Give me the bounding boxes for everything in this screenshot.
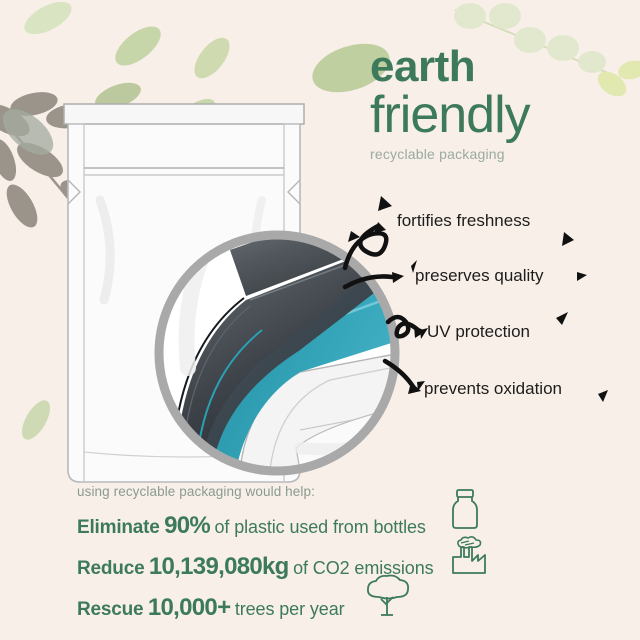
headline-line-1: earth <box>370 44 630 90</box>
stat-row: Rescue 10,000+ trees per year <box>77 594 547 622</box>
curly-arrow-icon <box>388 317 418 336</box>
feature-label-prevents-oxidation: prevents oxidation <box>424 379 562 399</box>
bottle-icon <box>447 487 483 531</box>
stat-number: 10,000+ <box>148 594 231 621</box>
headline-block: earth friendly recyclable packaging <box>370 44 630 162</box>
factory-icon <box>447 535 491 575</box>
stat-number: 10,139,080kg <box>149 553 289 580</box>
spark-tick-icon <box>577 272 587 281</box>
feature-label-uv-protection: UV protection <box>427 322 530 342</box>
stat-description: of plastic used from bottles <box>215 517 426 537</box>
spark-tick-icon <box>378 196 392 211</box>
headline-subtitle: recyclable packaging <box>370 146 630 162</box>
curved-arrow-icon <box>345 276 392 287</box>
stat-verb: Rescue <box>77 599 143 620</box>
feature-label-preserves-quality: preserves quality <box>415 266 544 286</box>
stat-number: 90% <box>164 512 210 539</box>
spark-tick-icon <box>598 390 608 402</box>
spark-tick-icon <box>556 312 568 325</box>
stat-verb: Eliminate <box>77 517 160 538</box>
curved-arrow-icon <box>385 361 414 388</box>
spark-tick-icon <box>562 232 574 246</box>
tree-icon <box>361 573 413 619</box>
headline-line-2: friendly <box>370 88 630 142</box>
poster-canvas: earth friendly recyclable packaging fort… <box>0 0 640 640</box>
feature-label-fortifies-freshness: fortifies freshness <box>397 211 530 231</box>
stat-description: trees per year <box>235 599 345 619</box>
stat-verb: Reduce <box>77 558 144 579</box>
